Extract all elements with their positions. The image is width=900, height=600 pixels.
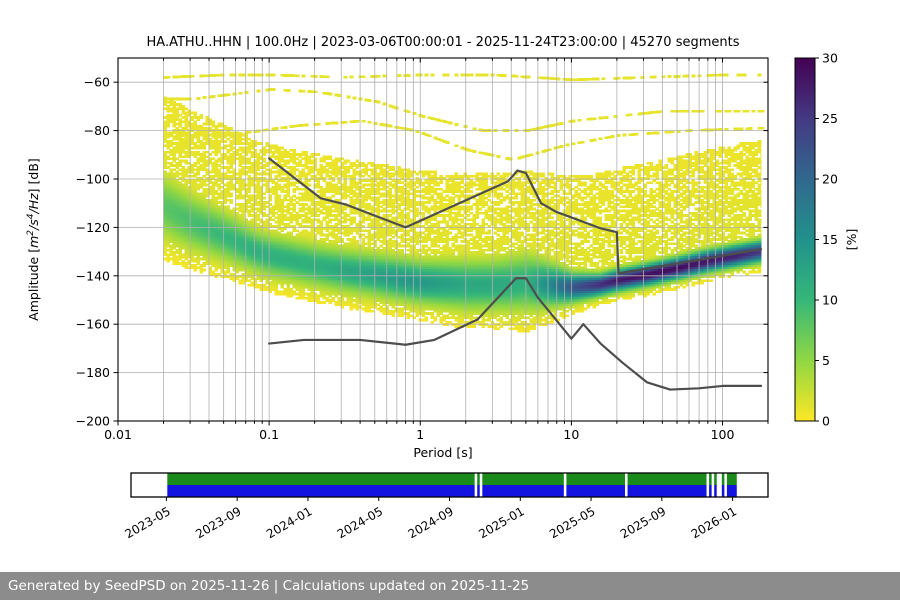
colorbar-tick-label: 0 [822, 414, 830, 429]
colorbar-tick-label: 30 [822, 51, 838, 66]
timeline-date-label: 2023-09 [193, 504, 243, 541]
x-tick-label: 0.01 [104, 427, 132, 442]
timeline-coverage [167, 473, 736, 497]
timeline-gap [475, 473, 478, 497]
plot-title: HA.ATHU..HHN | 100.0Hz | 2023-03-06T00:0… [147, 35, 740, 50]
x-tick-label: 100 [711, 427, 735, 442]
y-tick-label: −120 [76, 220, 110, 235]
timeline-gap [564, 473, 567, 497]
colorbar-ticks: 051015202530 [815, 51, 838, 429]
x-tick-label: 10 [563, 427, 579, 442]
y-tick-label: −140 [76, 268, 110, 283]
timeline-upper-band [167, 473, 736, 485]
psd-figure: 0.010.1110100−200−180−160−140−120−100−80… [0, 0, 900, 600]
x-tick-label: 0.1 [259, 427, 279, 442]
colorbar-tick-label: 15 [822, 232, 838, 247]
footer-bar: Generated by SeedPSD on 2025-11-26 | Cal… [0, 572, 900, 600]
y-tick-label: −100 [76, 172, 110, 187]
y-axis-label: Amplitude [m2/s4/Hz] [dB] [26, 158, 41, 321]
timeline-gap [480, 473, 483, 497]
timeline-date-label: 2024-05 [335, 504, 385, 541]
timeline-date-label: 2025-01 [476, 504, 526, 541]
colorbar-gradient [795, 58, 815, 421]
timeline-date-labels: 2023-052023-092024-012024-052024-092025-… [122, 497, 739, 541]
timeline-date-label: 2026-01 [689, 504, 739, 541]
colorbar-tick-label: 10 [822, 293, 838, 308]
colorbar-tick-label: 25 [822, 111, 838, 126]
timeline-date-label: 2023-05 [122, 504, 172, 541]
y-tick-label: −60 [84, 75, 110, 90]
psd-plot-svg: 0.010.1110100−200−180−160−140−120−100−80… [0, 0, 900, 572]
colorbar-tick-label: 5 [822, 353, 830, 368]
timeline-date-label: 2025-09 [618, 504, 668, 541]
y-tick-label: −180 [76, 365, 110, 380]
y-tick-label: −200 [76, 414, 110, 429]
x-axis-label: Period [s] [413, 445, 472, 460]
timeline-gap [717, 473, 722, 497]
timeline-date-label: 2025-05 [547, 504, 597, 541]
timeline-gap [707, 473, 710, 497]
timeline-date-label: 2024-01 [264, 504, 314, 541]
timeline-gap [712, 473, 715, 497]
timeline-gap [625, 473, 628, 497]
colorbar-label: [%] [844, 229, 859, 251]
timeline-date-label: 2024-09 [406, 504, 456, 541]
y-tick-label: −160 [76, 317, 110, 332]
colorbar-tick-label: 20 [822, 172, 838, 187]
timeline-lower-band [167, 485, 736, 497]
y-tick-label: −80 [84, 123, 110, 138]
x-tick-label: 1 [416, 427, 424, 442]
timeline-gap [724, 473, 727, 497]
footer-text: Generated by SeedPSD on 2025-11-26 | Cal… [0, 578, 529, 594]
